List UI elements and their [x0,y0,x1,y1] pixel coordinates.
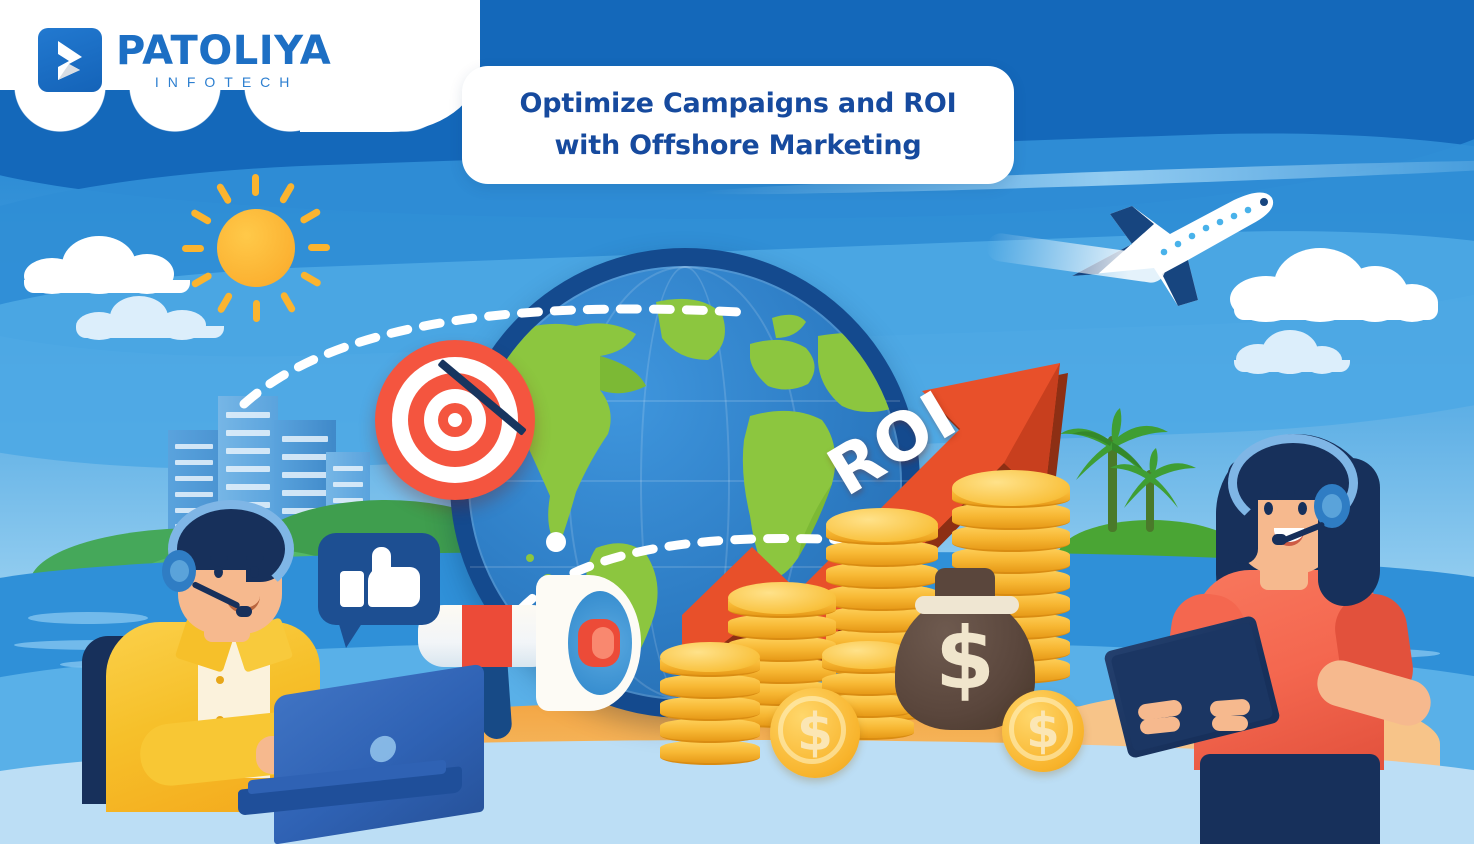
cloud-icon [1232,330,1352,372]
chevron-arrow-logo-icon [38,28,102,92]
brand-logo[interactable]: PATOLIYA INFOTECH [38,28,331,92]
route-marker-dot [546,532,566,552]
cloud-icon [22,236,192,294]
brand-name: PATOLIYA [116,30,331,72]
dollar-coin-icon: $ [1002,690,1084,772]
money-bag-dollar-symbol: $ [895,616,1035,702]
brand-tagline: INFOTECH [116,74,331,90]
headline-card: Optimize Campaigns and ROI with Offshore… [462,66,1014,184]
airplane-icon [1058,178,1288,308]
headline-line-2: with Offshore Marketing [554,125,921,167]
headline-line-1: Optimize Campaigns and ROI [519,83,956,125]
dollar-coin-icon: $ [770,688,860,778]
support-agent-female [1132,418,1452,818]
marketing-banner: ROI [0,0,1474,844]
support-agent-male [88,488,488,818]
